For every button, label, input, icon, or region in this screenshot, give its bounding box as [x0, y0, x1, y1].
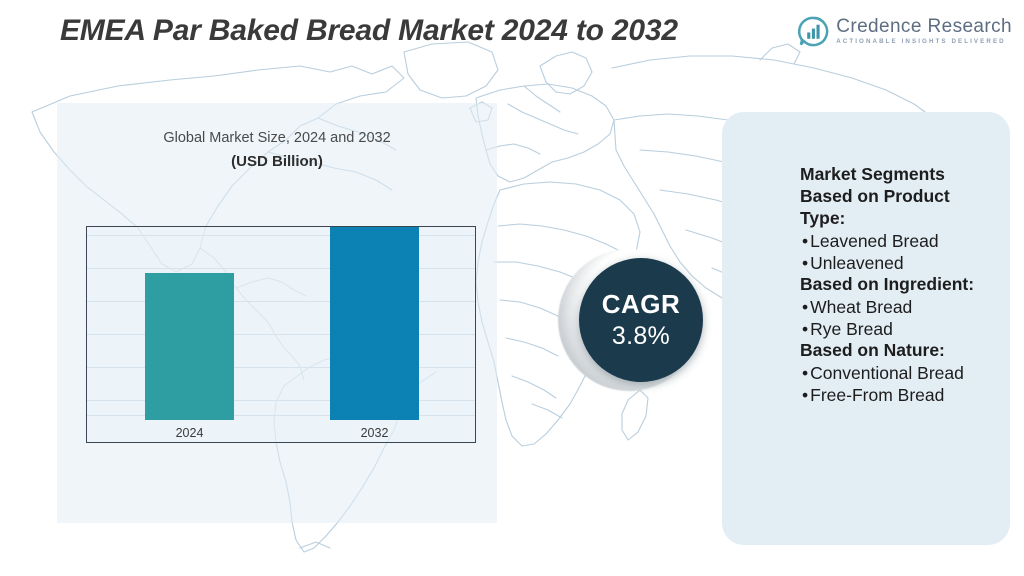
chart-subtitle: (USD Billion)	[57, 153, 497, 170]
logo-tagline: Actionable Insights Delivered	[836, 39, 1012, 45]
cagr-label: CAGR	[602, 289, 681, 320]
cagr-circle: CAGR 3.8%	[579, 258, 703, 382]
segment-item-free-from-bread: •Free-From Bread	[800, 384, 998, 406]
segment-item-label: Conventional Bread	[810, 363, 964, 383]
bullet-icon: •	[802, 385, 808, 405]
segment-group-heading-ingredient: Based on Ingredient:	[800, 274, 998, 296]
segment-item-label: Wheat Bread	[810, 297, 912, 317]
segment-item-conventional-bread: •Conventional Bread	[800, 362, 998, 384]
bullet-icon: •	[802, 253, 808, 273]
logo-name: Credence Research	[836, 17, 1012, 36]
infographic-root: EMEA Par Baked Bread Market 2024 to 2032…	[0, 0, 1024, 576]
header: EMEA Par Baked Bread Market 2024 to 2032…	[0, 0, 1024, 62]
brand-logo[interactable]: Credence Research Actionable Insights De…	[798, 16, 1012, 47]
bullet-icon: •	[802, 297, 808, 317]
x-axis-label-2024: 2024	[145, 426, 234, 440]
segment-group-heading-nature: Based on Nature:	[800, 340, 998, 362]
segment-item-label: Leavened Bread	[810, 231, 938, 251]
segment-item-leavened-bread: •Leavened Bread	[800, 230, 998, 252]
segment-item-label: Free-From Bread	[810, 385, 944, 405]
segment-item-rye-bread: •Rye Bread	[800, 318, 998, 340]
segment-item-label: Unleavened	[810, 253, 903, 273]
cagr-value: 3.8%	[612, 322, 670, 351]
chart-plot-area: 2024 2032	[86, 226, 476, 443]
chart-title: Global Market Size, 2024 and 2032	[57, 130, 497, 146]
segment-item-label: Rye Bread	[810, 319, 893, 339]
market-size-chart-panel: Global Market Size, 2024 and 2032 (USD B…	[57, 103, 497, 523]
bullet-icon: •	[802, 319, 808, 339]
cagr-badge: CAGR 3.8%	[558, 249, 714, 391]
bar-2024	[145, 273, 234, 420]
segment-item-unleavened: •Unleavened	[800, 252, 998, 274]
market-segments-panel: Market Segments Based on Product Type: •…	[722, 112, 1010, 545]
bar-chart-circle-icon	[798, 16, 829, 47]
bullet-icon: •	[802, 231, 808, 251]
bar-2032	[330, 227, 419, 420]
segment-item-wheat-bread: •Wheat Bread	[800, 296, 998, 318]
x-axis-label-2032: 2032	[330, 426, 419, 440]
page-title: EMEA Par Baked Bread Market 2024 to 2032	[60, 14, 678, 48]
segments-title: Market Segments	[800, 164, 998, 186]
bullet-icon: •	[802, 363, 808, 383]
segment-group-heading-product-type: Based on Product Type:	[800, 186, 998, 230]
